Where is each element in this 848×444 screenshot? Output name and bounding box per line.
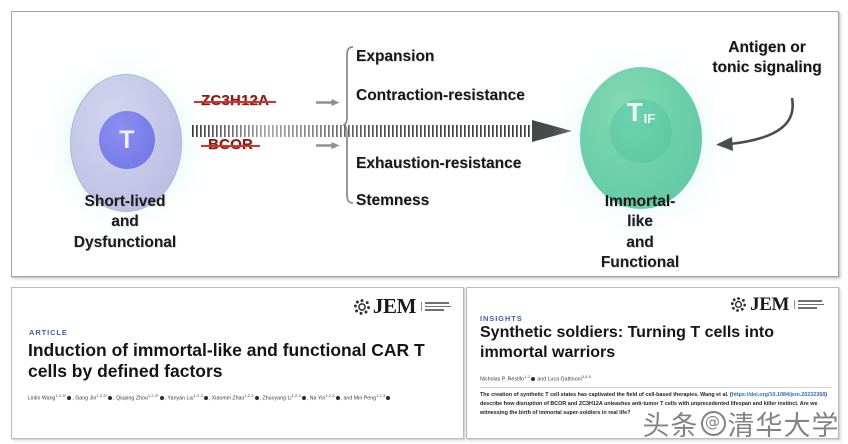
phenotype-expansion: Expansion <box>356 48 434 66</box>
jem-wordmark: JEM <box>750 295 789 314</box>
paper-card-insights[interactable]: JEM INSIGHTS Synthetic soldiers: Turning… <box>466 287 839 439</box>
orcid-icon <box>108 396 112 400</box>
transition-arrow-icon <box>192 120 572 142</box>
left-caption-line-2: and <box>32 212 218 232</box>
phenotype-contraction-resistance: Contraction-resistance <box>356 87 525 105</box>
jem-wordmark: JEM <box>373 296 416 317</box>
antigen-annotation: Antigen or tonic signaling <box>692 38 839 79</box>
orcid-icon <box>67 396 71 400</box>
jem-logo: JEM <box>354 296 451 317</box>
paper-title-insights[interactable]: Synthetic soldiers: Turning T cells into… <box>480 323 826 362</box>
left-cell-caption: Short-lived and Dysfunctional <box>32 192 218 253</box>
right-cell-nucleus: T IF <box>610 99 672 163</box>
jem-logo: JEM <box>731 295 824 314</box>
screenshot-root: T Short-lived and Dysfunctional ZC3H12A … <box>0 0 848 444</box>
orcid-icon <box>336 396 340 400</box>
doi-link[interactable]: https://doi.org/10.1084/jem.20232368 <box>732 392 825 398</box>
right-caption-line-4: Functional <box>552 253 728 273</box>
jem-subtitle-marks <box>421 302 451 310</box>
paper-abstract-insights: The creation of synthetic T cell states … <box>480 391 832 418</box>
orcid-icon <box>255 396 259 400</box>
antigen-line-1: Antigen or <box>692 38 839 58</box>
paper-kicker-article: ARTICLE <box>29 328 68 337</box>
jem-emblem-icon <box>731 297 747 313</box>
paper-title-article[interactable]: Induction of immortal-like and functiona… <box>28 340 453 383</box>
paper-card-article[interactable]: JEM ARTICLE Induction of immortal-like a… <box>11 287 464 439</box>
paper-authors-insights: Nicholas P. Restifo1,2 and Luca Gattinon… <box>480 374 810 385</box>
antigen-line-2: tonic signaling <box>692 58 839 78</box>
orcid-icon <box>302 396 306 400</box>
orcid-icon <box>386 396 390 400</box>
right-caption-line-2: like <box>552 212 728 232</box>
right-caption-line-1: Immortal- <box>552 192 728 212</box>
right-cell-caption: Immortal- like and Functional <box>552 192 728 274</box>
jem-emblem-icon <box>354 299 370 315</box>
orcid-icon <box>531 377 535 381</box>
jem-subtitle-marks <box>794 300 824 308</box>
arrow-right-icon <box>316 97 342 108</box>
phenotype-exhaustion-resistance: Exhaustion-resistance <box>356 155 521 173</box>
phenotype-stemness: Stemness <box>356 192 429 210</box>
paper-kicker-insights: INSIGHTS <box>480 314 523 323</box>
curved-arrow-left-icon <box>696 94 816 158</box>
left-caption-line-1: Short-lived <box>32 192 218 212</box>
orcid-icon <box>160 396 164 400</box>
gene-label-zc3h12a: ZC3H12A <box>201 92 269 109</box>
paper-authors-article: Linlin Wang1,2,3*, Gang Jin1,2,3*, Qiupi… <box>28 393 453 404</box>
right-cell-nucleus-subscript: IF <box>644 112 656 125</box>
left-cell-nucleus-label: T <box>119 128 135 153</box>
strikethrough-line <box>194 101 276 103</box>
diagram-panel: T Short-lived and Dysfunctional ZC3H12A … <box>11 11 839 277</box>
abstract-text-part1: The creation of synthetic T cell states … <box>480 392 732 398</box>
left-cell-nucleus: T <box>99 111 155 169</box>
strikethrough-line <box>201 145 260 147</box>
right-caption-line-3: and <box>552 233 728 253</box>
left-caption-line-3: Dysfunctional <box>32 233 218 253</box>
orcid-icon <box>204 396 208 400</box>
right-cell-nucleus-label: T <box>627 99 643 125</box>
immortal-like-t-cell: T IF <box>580 67 702 209</box>
divider <box>480 387 832 388</box>
